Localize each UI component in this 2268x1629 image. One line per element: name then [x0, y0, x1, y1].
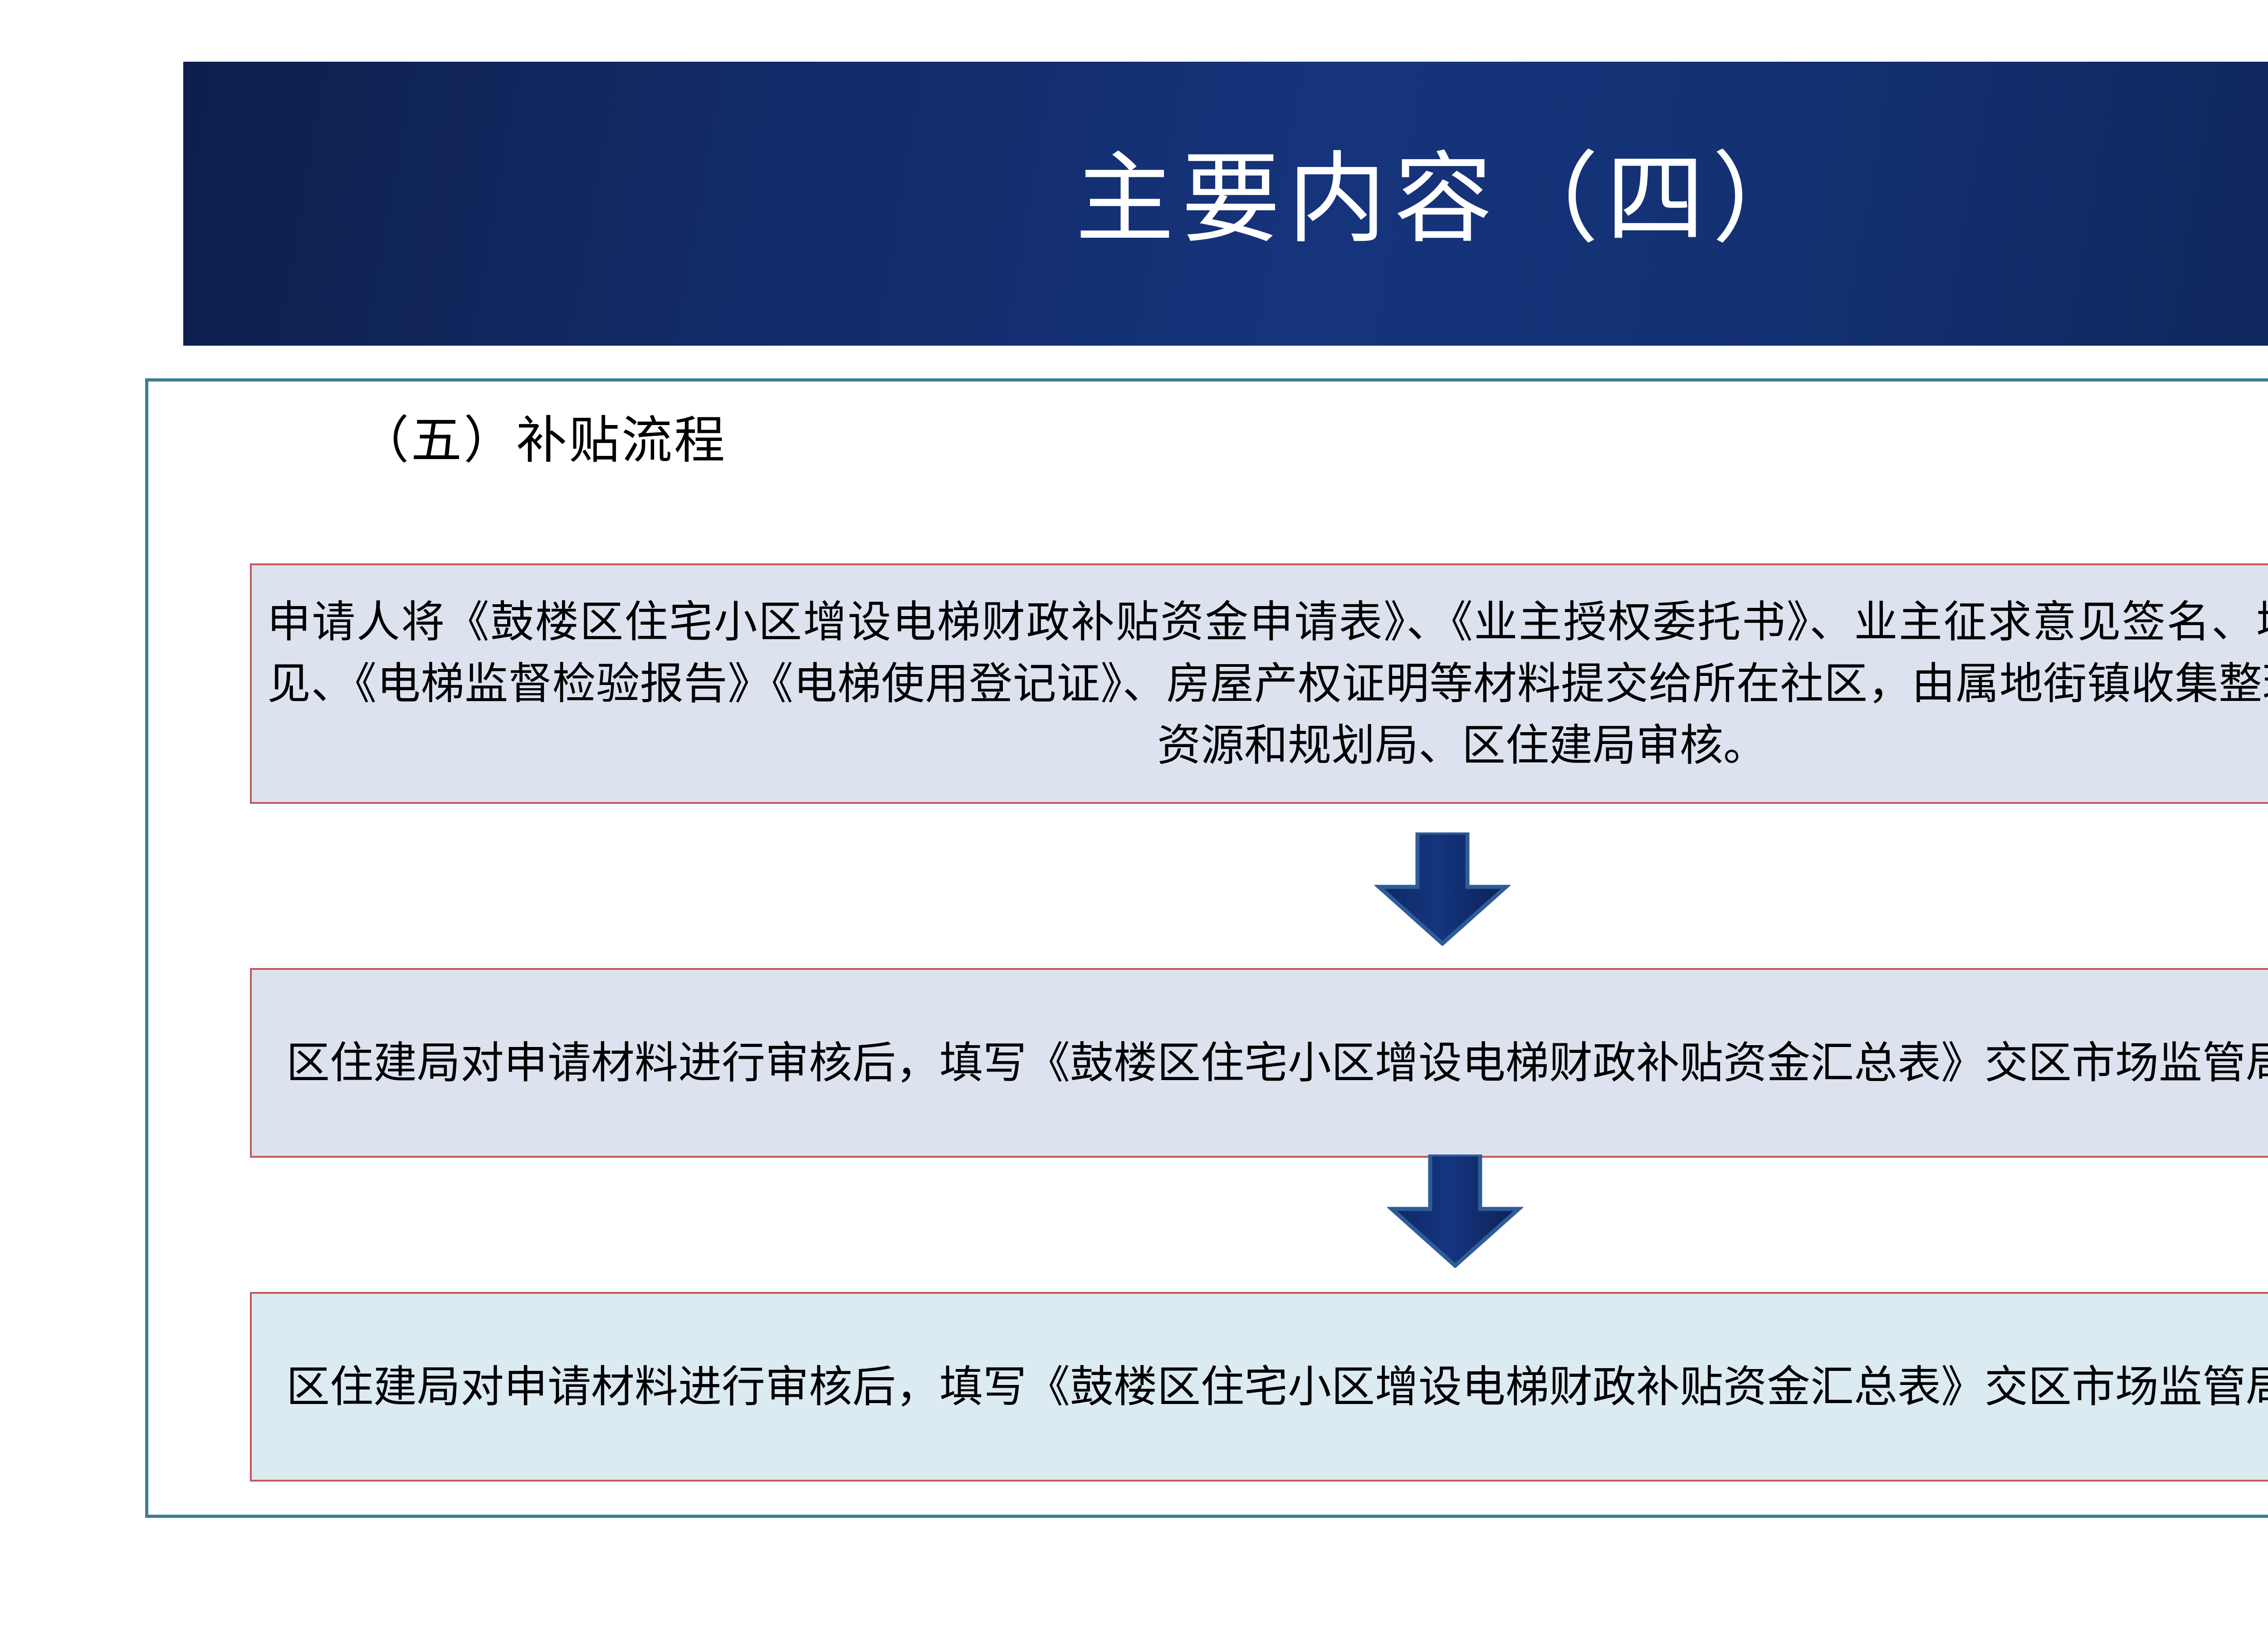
title-banner: 主要内容（四）	[183, 62, 2268, 346]
down-arrow-icon-1	[1374, 832, 1510, 946]
flow-step-text-3: 区住建局对申请材料进行审核后，填写《鼓楼区住宅小区增设电梯财政补贴资金汇总表》交…	[286, 1356, 2268, 1418]
page-title: 主要内容（四）	[1075, 150, 1818, 257]
flow-step-box-2: 区住建局对申请材料进行审核后，填写《鼓楼区住宅小区增设电梯财政补贴资金汇总表》交…	[250, 968, 2268, 1158]
section-heading: （五）补贴流程	[358, 413, 727, 469]
flow-step-text-1: 申请人将《鼓楼区住宅小区增设电梯财政补贴资金申请表》、《业主授权委托书》、业主征…	[267, 591, 2268, 777]
flow-step-box-3: 区住建局对申请材料进行审核后，填写《鼓楼区住宅小区增设电梯财政补贴资金汇总表》交…	[250, 1292, 2268, 1482]
flow-step-text-2: 区住建局对申请材料进行审核后，填写《鼓楼区住宅小区增设电梯财政补贴资金汇总表》交…	[286, 1032, 2268, 1094]
down-arrow-icon-2	[1387, 1154, 1523, 1268]
flow-step-box-1: 申请人将《鼓楼区住宅小区增设电梯财政补贴资金申请表》、《业主授权委托书》、业主征…	[250, 563, 2268, 804]
